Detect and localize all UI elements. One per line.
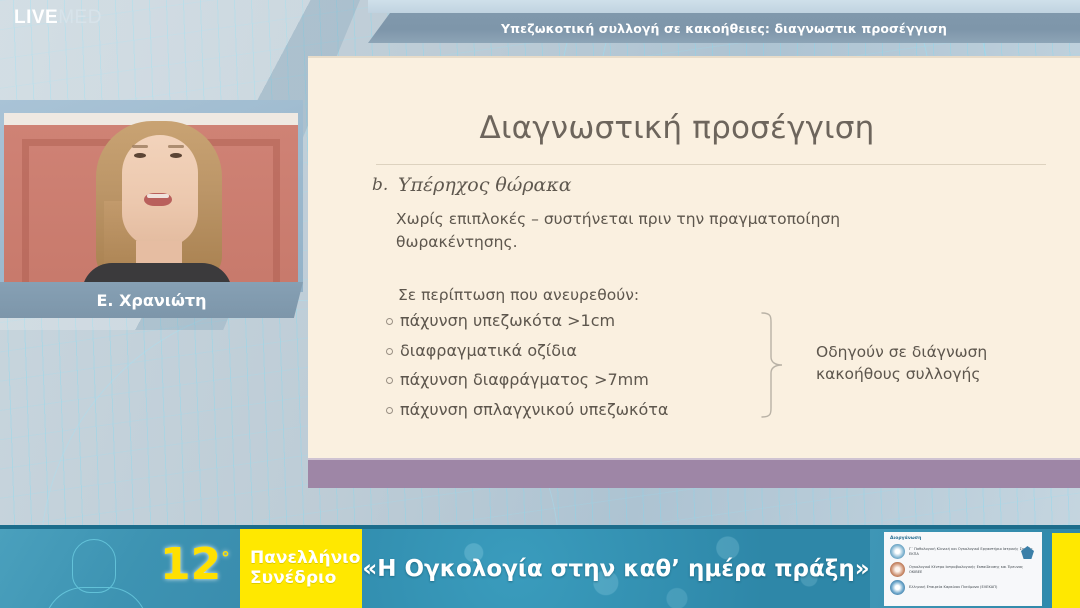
list-item: πάχυνση διαφράγματος >7mm [386,369,806,391]
slide-content: Διαγνωστική προσέγγιση b. Υπέρηχος θώρακ… [308,58,1080,488]
congress-theme-text: «Η Ογκολογία στην καθ’ ημέρα πράξη» [362,556,869,582]
edition-number-value: 12 [160,539,221,590]
speaker-mouth [144,193,172,206]
organizer-row: Γ´ Παθολογική Κλινική και Ογκολογικό Εργ… [890,544,1036,559]
organizers-block: Διοργάνωση Γ´ Παθολογική Κλινική και Ογκ… [870,529,1080,608]
congress-label-line-1: Πανελλήνιο [250,549,362,568]
list-item: πάχυνση σπλαγχνικού υπεζωκότα [386,399,806,421]
bullet-list-lead: Σε περίπτωση που ανευρεθούν: [398,286,639,304]
congress-label-block: Πανελλήνιο Συνέδριο [240,529,362,608]
list-item: πάχυνση υπεζωκότα >1cm [386,310,806,332]
edition-degree-symbol: ° [221,548,230,568]
body-torso-shape [44,587,148,608]
edition-number: 12° [160,543,230,587]
body-head-shape [72,539,116,593]
banner-right-yellow-edge [1052,533,1080,608]
list-item: διαφραγματικά οζίδια [386,340,806,362]
organizer-name: Ελληνική Εταιρεία Καρκίνου Πνεύμονα (ΕΛΕ… [909,585,997,590]
organizer-row: Ογκολογικό Κέντρο Ιατροβιολογικής Εκπαίδ… [890,562,1036,577]
slide-title-divider [376,164,1046,165]
speaker-eye-right [170,153,182,158]
list-item-heading: Υπέρηχος θώρακα [398,174,572,196]
speaker-nameplate: Ε. Χρανιώτη [0,282,303,318]
annotation-line-2: κακοήθους συλλογής [816,363,1026,385]
organizer-logo-icon [890,580,905,595]
slide-title: Διαγνωστική προσέγγιση [308,110,1046,146]
logo-text-live: LIVE [14,7,58,28]
annotation-line-1: Οδηγούν σε διάγνωση [816,341,1026,363]
speaker-eyebrow-right [168,145,184,148]
speaker-eye-left [134,153,146,158]
curly-brace-icon [758,310,792,420]
speaker-shoulders [82,263,232,282]
speaker-face [122,135,198,247]
logo-text-med: MED [58,7,102,28]
livemed-logo: LIVEMED [14,8,102,27]
banner-right-spacer [1044,533,1052,608]
slide-footer-bar [308,458,1080,488]
header-top-strip [368,0,1080,13]
congress-banner: 12° Πανελλήνιο Συνέδριο «Η Ογκολογία στη… [0,525,1080,608]
organizers-title: Διοργάνωση [890,536,1036,541]
organizer-logo-icon [890,562,905,577]
organizer-logo-icon [890,544,905,559]
organizer-name: Γ´ Παθολογική Κλινική και Ογκολογικό Εργ… [909,547,1036,557]
presentation-title: Υπεζωκοτική συλλογή σε κακοήθειες: διαγν… [501,21,947,36]
findings-bullet-list: πάχυνση υπεζωκότα >1cm διαφραγματικά οζί… [386,310,806,428]
presentation-slide[interactable]: Διαγνωστική προσέγγιση b. Υπέρηχος θώρακ… [308,56,1080,488]
congress-label-line-2: Συνέδριο [250,569,362,588]
video-player-stage: LIVEMED Υπεζωκοτική συλλογή σε κακοήθειε… [0,0,1080,608]
organizer-row: Ελληνική Εταιρεία Καρκίνου Πνεύμονα (ΕΛΕ… [890,580,1036,595]
speaker-eyebrow-left [132,145,148,148]
list-item-letter: b. [372,175,388,195]
speaker-video-feed[interactable] [4,113,298,282]
list-item-subtext: Χωρίς επιπλοκές – συστήνεται πριν την πρ… [396,208,916,255]
presentation-header-bar: Υπεζωκοτική συλλογή σε κακοήθειες: διαγν… [368,13,1080,43]
congress-theme-block: «Η Ογκολογία στην καθ’ ημέρα πράξη» [362,529,870,608]
organizer-name: Ογκολογικό Κέντρο Ιατροβιολογικής Εκπαίδ… [909,565,1036,575]
organizers-card: Διοργάνωση Γ´ Παθολογική Κλινική και Ογκ… [884,532,1042,606]
speaker-webcam-panel[interactable] [0,100,303,292]
slide-annotation: Οδηγούν σε διάγνωση κακοήθους συλλογής [816,341,1026,386]
speaker-name: Ε. Χρανιώτη [97,291,207,310]
